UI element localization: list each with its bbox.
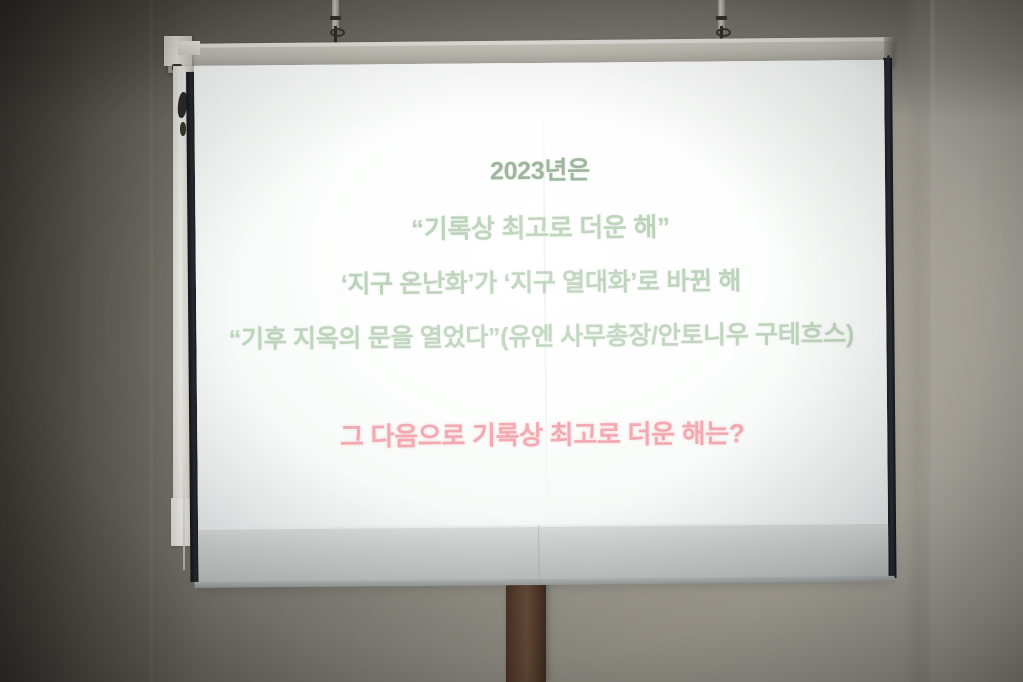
wall-column-face (930, 0, 1023, 682)
skirt-fold (538, 525, 539, 581)
cord-knot-icon (180, 122, 186, 136)
hanger-foot-icon (330, 16, 341, 20)
slide-line-5-question: 그 다음으로 기록상 최고로 더운 해는? (197, 412, 887, 455)
slide-line-4: “기후 지옥의 문을 열었다”(유엔 사무총장/안토니우 구테흐스) (196, 314, 886, 356)
slide-line-2: “기록상 최고로 더운 해” (195, 205, 885, 248)
slide-text-block: 2023년은 “기록상 최고로 더운 해” ‘지구 온난화’가 ‘지구 열대화’… (194, 60, 888, 528)
pull-cord[interactable] (183, 70, 185, 570)
wall-bracket-tab (178, 41, 200, 55)
ceiling-hanger-left (330, 0, 340, 46)
hanger-foot-icon (716, 16, 727, 20)
wall-seam (150, 0, 153, 682)
slide-line-3: ‘지구 온난화’가 ‘지구 열대화’로 바뀐 해 (196, 260, 886, 302)
screen-skirt (198, 522, 888, 584)
projector-screen: 2023년은 “기록상 최고로 더운 해” ‘지구 온난화’가 ‘지구 열대화’… (186, 58, 897, 586)
slide-line-1: 2023년은 (195, 148, 885, 190)
presentation-room-photo: 2023년은 “기록상 최고로 더운 해” ‘지구 온난화’가 ‘지구 열대화’… (0, 0, 1023, 682)
wood-post (506, 575, 546, 682)
